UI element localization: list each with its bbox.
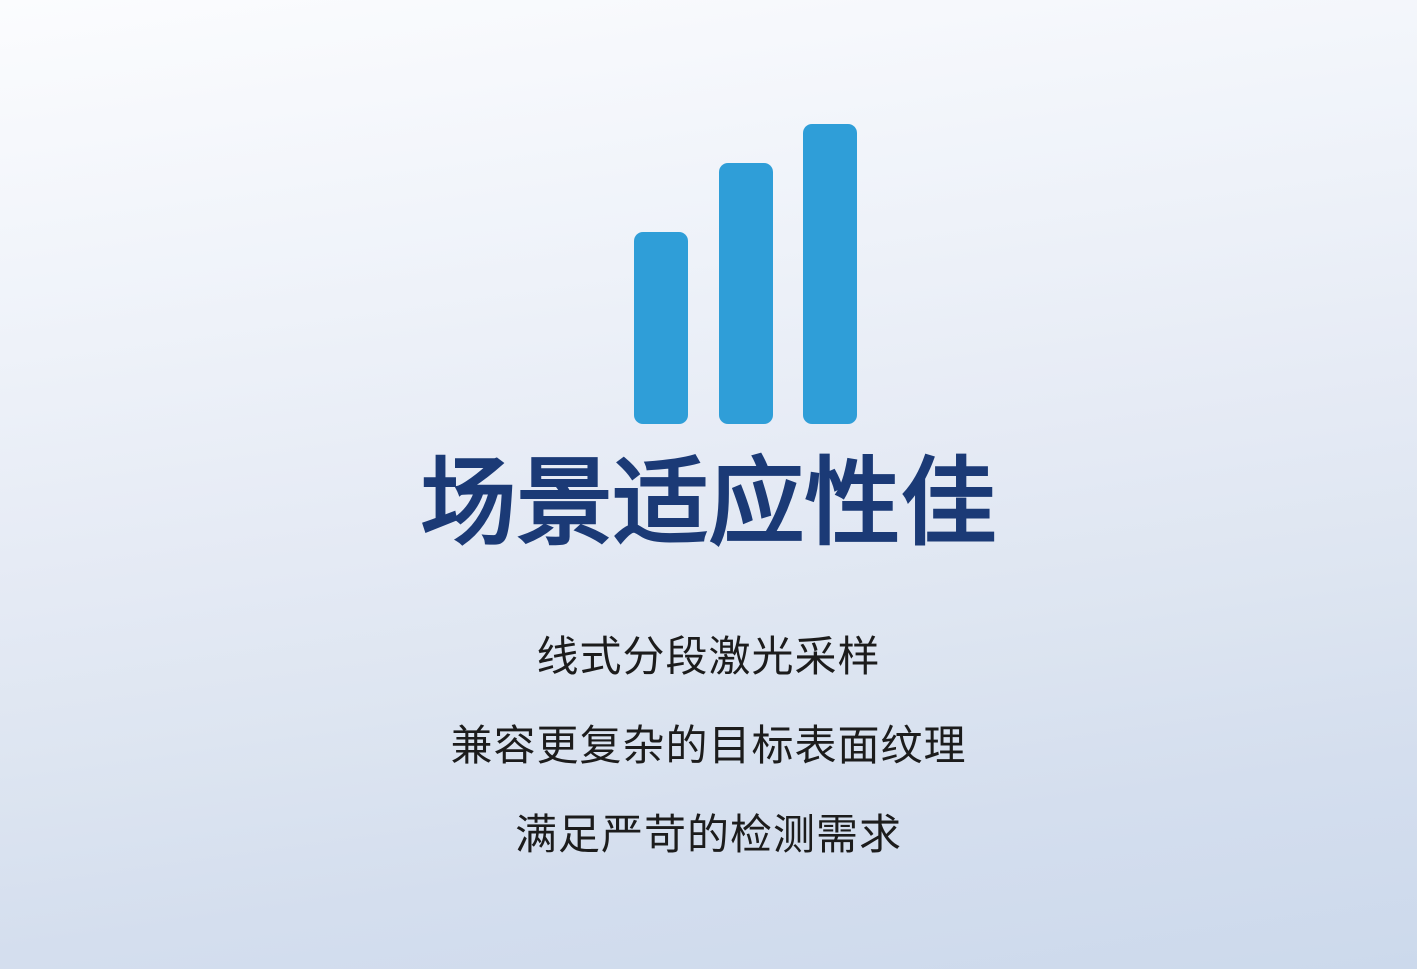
subtitle-line-2: 兼容更复杂的目标表面纹理 [0,701,1417,790]
subtitle-line-3: 满足严苛的检测需求 [0,790,1417,879]
slide-canvas: 场景适应性佳 线式分段激光采样 兼容更复杂的目标表面纹理 满足严苛的检测需求 [0,0,1417,969]
subtitle-line-1: 线式分段激光采样 [0,612,1417,701]
bar-chart-bar-1 [634,232,688,424]
bar-chart-bar-3 [803,124,857,424]
bar-chart-icon [634,124,857,424]
bar-chart-bar-2 [719,163,773,424]
page-title: 场景适应性佳 [0,452,1417,556]
subtitle-block: 线式分段激光采样 兼容更复杂的目标表面纹理 满足严苛的检测需求 [0,612,1417,879]
